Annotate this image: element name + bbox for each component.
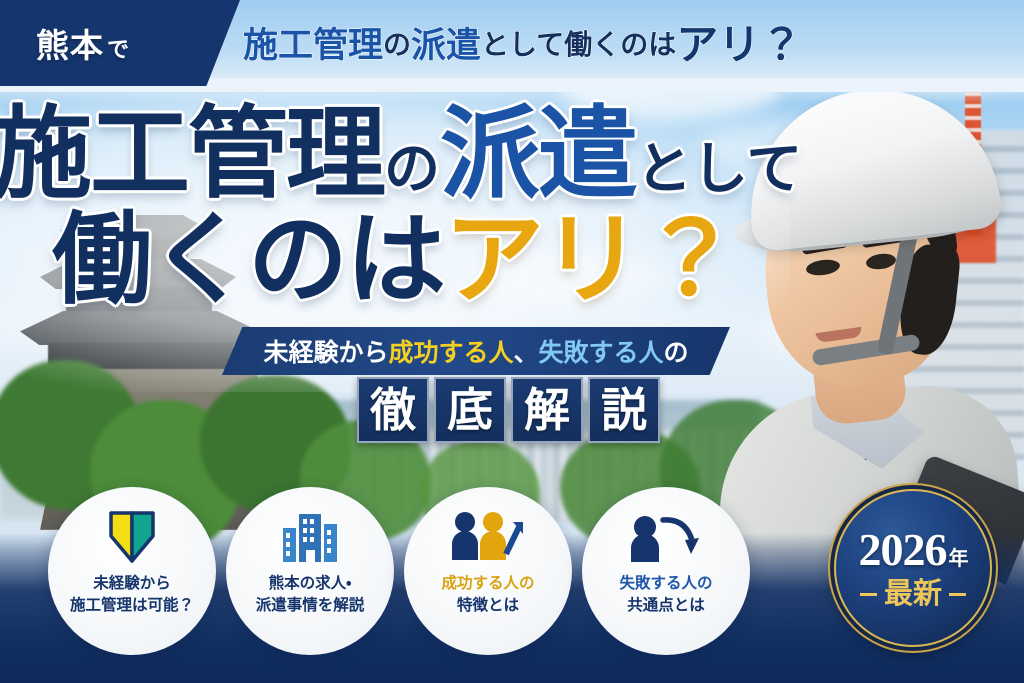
badge-rule-right [949,593,966,596]
emphasis-kanji-0: 徹 [370,387,416,433]
main-line1-part-1: の [384,137,440,200]
feature-circle-1-line2: 施工管理は可能？ [70,595,194,617]
subtitle-part-4: の [664,333,689,369]
top-headline-part-4: アリ？ [676,24,802,66]
kumamoto-badge-text: 熊本で [36,19,130,67]
top-headline-part-1: の [383,31,411,59]
badge-latest-label: 最新 [884,580,942,609]
feature-circle-row: 未経験から 施工管理は可能？ [48,487,750,655]
feature-circle-2-line2: 派遣事情を解説 [256,595,365,617]
badge-year-row: 2026年 [859,527,968,573]
kumamoto-badge: 熊本で [0,0,240,86]
beginner-mark-icon [108,509,156,565]
main-headline-line-1: 施工管理の派遣として [0,104,790,204]
emphasis-kanji-box: 解 [511,377,583,443]
two-people-up-arrow-icon [449,509,527,565]
feature-circle-4[interactable]: 失敗する人の 共通点とは [582,487,750,655]
feature-circle-2-label: 熊本の求人・ 派遣事情を解説 [256,573,365,618]
emphasis-kanji-3: 説 [601,387,647,433]
badge-rule-left [860,593,877,596]
badge-year-suffix: 年 [949,549,968,569]
emphasis-kanji-row: 徹 底 解 説 [357,377,660,443]
feature-circle-2-line1: 熊本の求人・ [256,573,365,595]
main-line1-part-2: 派遣 [440,98,636,210]
feature-circle-4-line1: 失敗する人の [619,573,712,595]
feature-circle-1[interactable]: 未経験から 施工管理は可能？ [48,487,216,655]
feature-circle-4-label: 失敗する人の 共通点とは [619,573,712,618]
feature-circle-1-line1: 未経験から [70,573,194,595]
subtitle-part-0: 未経験から [263,333,388,369]
feature-circle-3-label: 成功する人の 特徴とは [441,573,534,618]
feature-circle-3-line1: 成功する人の [441,573,534,595]
subtitle-bar-text: 未経験から成功する人、失敗する人の [222,327,730,375]
main-line2-part-0: 働くのは [52,204,444,316]
main-line1-part-0: 施工管理 [0,98,384,210]
top-headline-part-0: 施工管理 [243,28,383,63]
subtitle-part-3: 失敗する人 [539,333,664,369]
main-headline: 施工管理の派遣として 働くのはアリ？ [0,104,790,310]
kumamoto-badge-label: 熊本 [36,19,104,67]
main-line2-part-1: アリ？ [444,204,738,316]
top-headline: 施工管理 の 派遣 として働くのは アリ？ [243,14,802,76]
marketing-banner: 熊本で 施工管理 の 派遣 として働くのは アリ？ 施工管理の派遣として 働くの… [0,0,1024,683]
emphasis-kanji-2: 解 [524,387,570,433]
year-badge: 2026年 最新 [834,489,992,647]
feature-circle-3[interactable]: 成功する人の 特徴とは [404,487,572,655]
top-headline-part-3: として働くのは [481,31,676,59]
emphasis-kanji-box: 底 [434,377,506,443]
buildings-icon [281,509,339,565]
top-headline-part-2: 派遣 [411,28,481,63]
main-headline-line-2: 働くのはアリ？ [0,210,790,310]
person-down-arrow-icon [627,509,705,565]
kumamoto-badge-suffix: で [107,32,130,64]
emphasis-kanji-1: 底 [447,387,493,433]
emphasis-kanji-box: 説 [588,377,660,443]
subtitle-part-2: 、 [513,333,538,369]
main-line1-part-3: として [636,137,802,200]
subtitle-part-1: 成功する人 [388,333,513,369]
badge-latest-row: 最新 [860,580,966,609]
feature-circle-3-line2: 特徴とは [441,595,534,617]
feature-circle-4-line2: 共通点とは [619,595,712,617]
badge-year-number: 2026 [859,527,947,573]
feature-circle-2[interactable]: 熊本の求人・ 派遣事情を解説 [226,487,394,655]
emphasis-kanji-box: 徹 [357,377,429,443]
feature-circle-1-label: 未経験から 施工管理は可能？ [70,573,194,618]
